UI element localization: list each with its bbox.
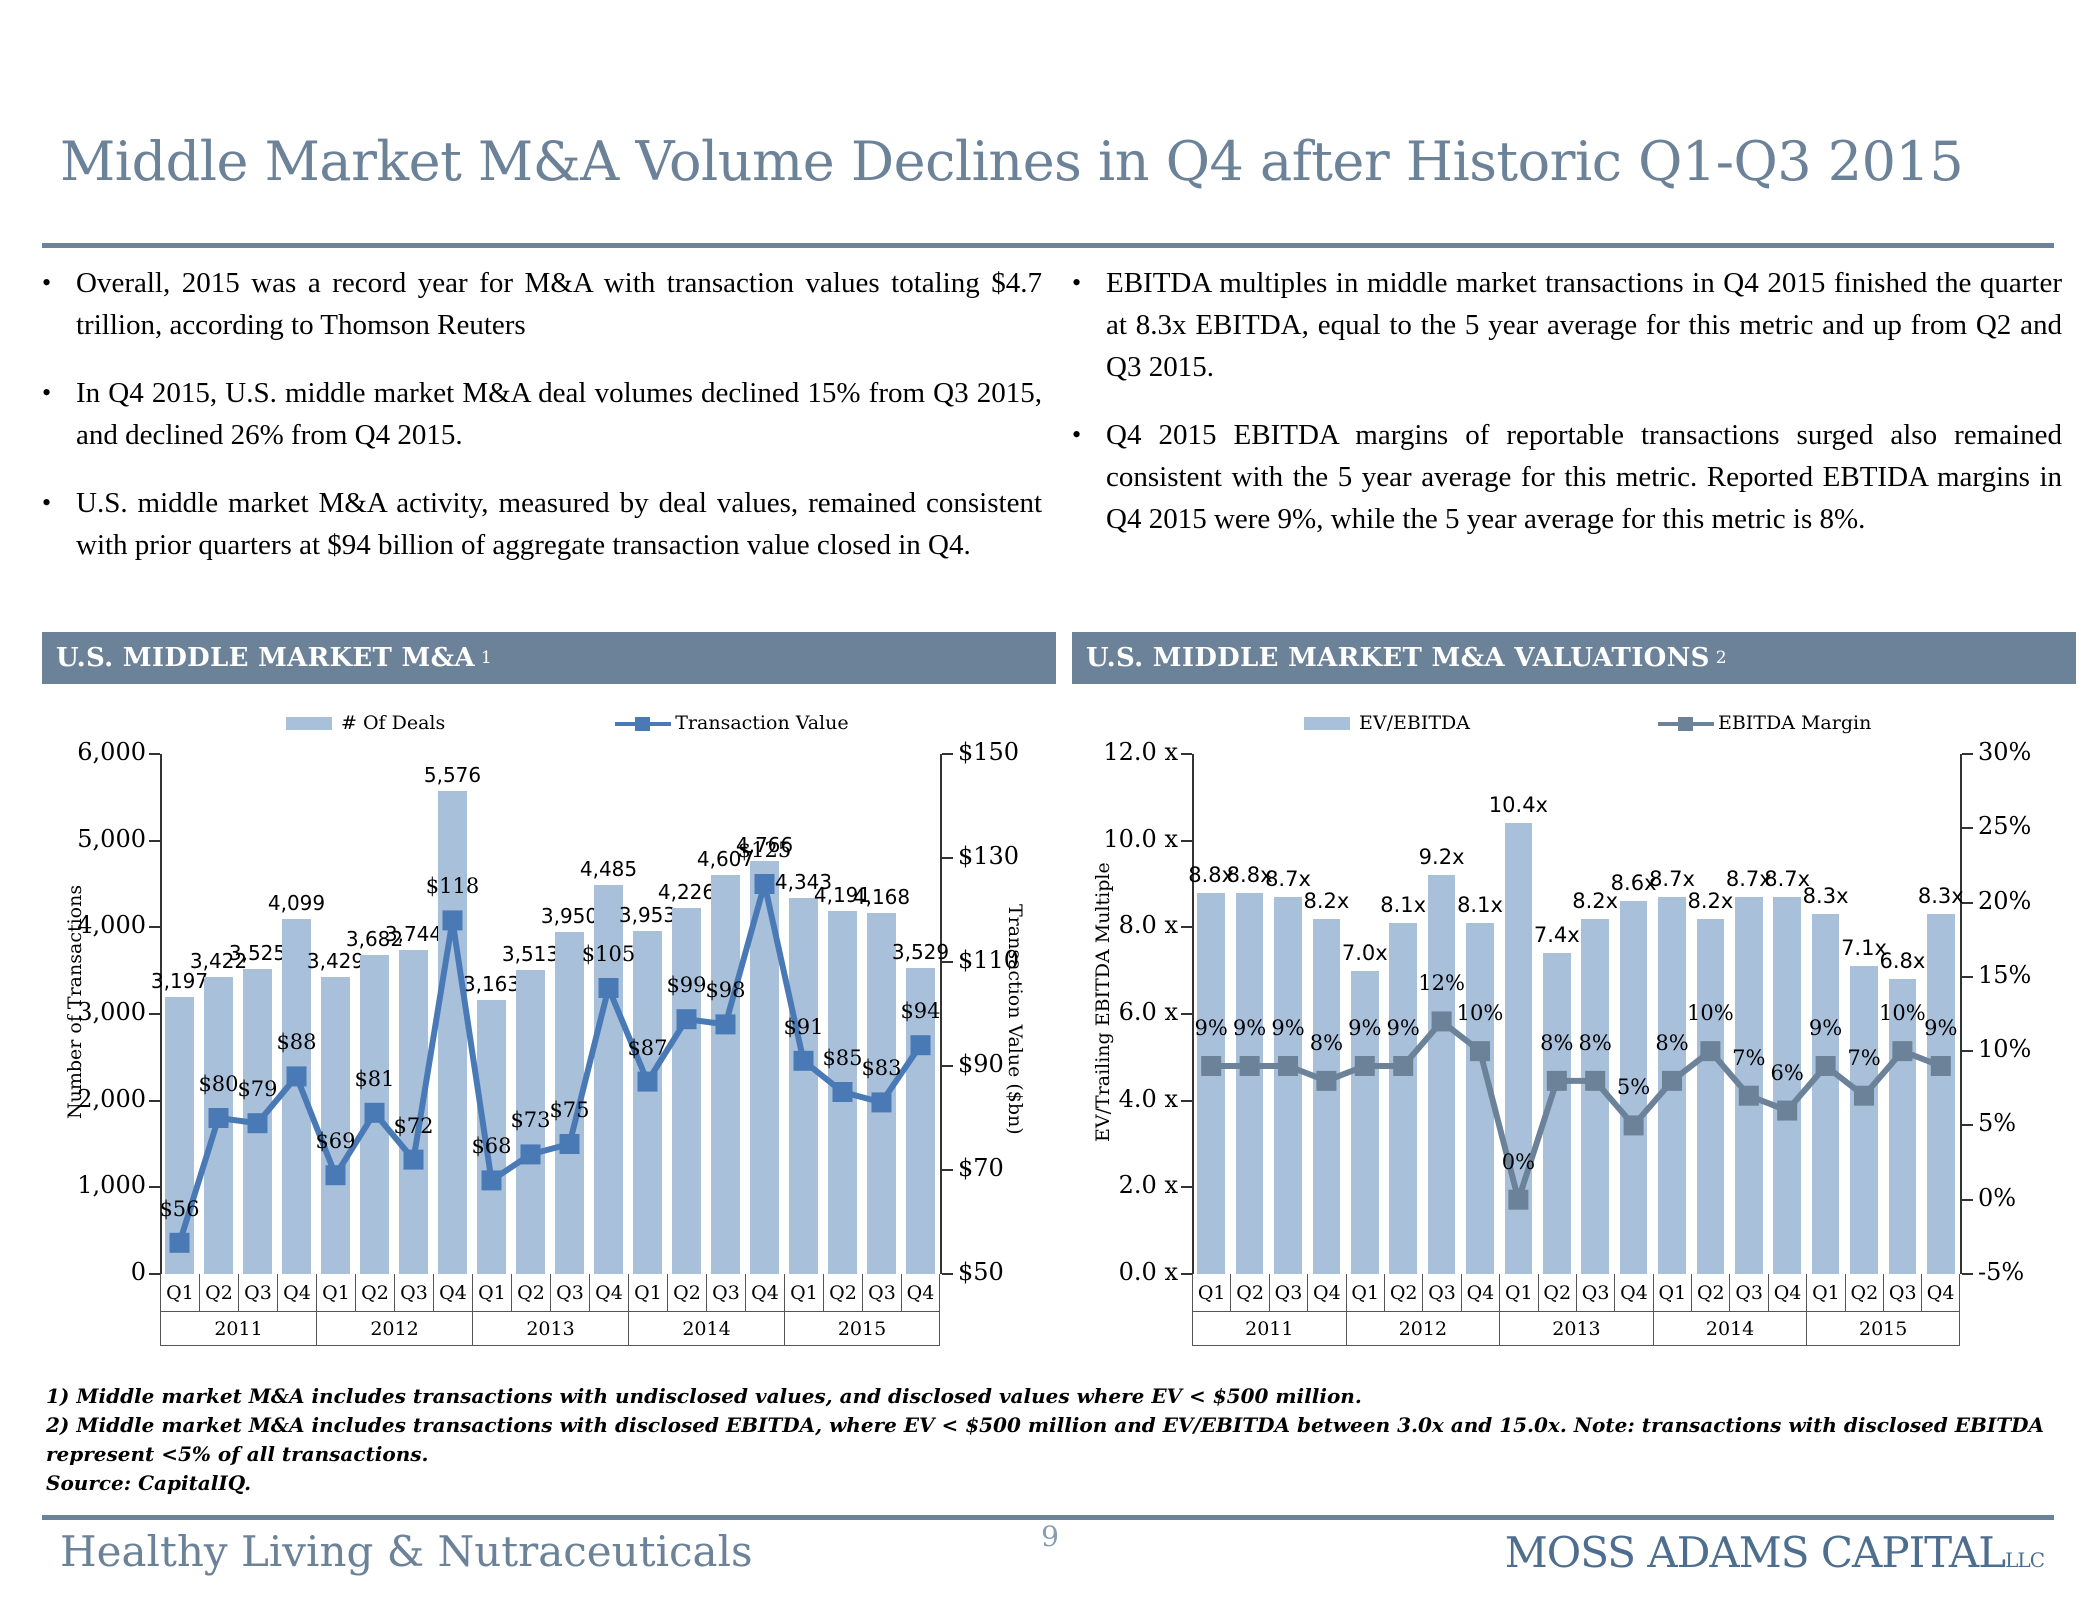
x-axis-quarter-cell: Q1 — [316, 1274, 355, 1312]
x-axis: Q1Q2Q3Q4Q1Q2Q3Q4Q1Q2Q3Q4Q1Q2Q3Q4Q1Q2Q3Q4… — [1192, 1274, 1960, 1346]
x-axis-quarter-cell: Q2 — [1230, 1274, 1268, 1312]
panel-header-right-label: U.S. MIDDLE MARKET M&A VALUATIONS — [1086, 643, 1710, 673]
line-point-label: $118 — [419, 874, 485, 898]
x-axis-quarter-cell: Q4 — [1461, 1274, 1499, 1312]
bar — [828, 911, 856, 1274]
bullet-text: EBITDA multiples in middle market transa… — [1106, 262, 2062, 388]
bar — [672, 908, 700, 1274]
line-point-label: $68 — [458, 1134, 524, 1158]
x-axis-year-cell: 2014 — [1653, 1312, 1807, 1346]
line-point-label: $56 — [146, 1197, 212, 1221]
bar — [750, 861, 778, 1274]
bar-value-label: 3,513 — [499, 942, 561, 966]
x-axis-quarter-cell: Q4 — [1921, 1274, 1959, 1312]
line-point-label: $69 — [302, 1129, 368, 1153]
line-point-label: $88 — [263, 1030, 329, 1054]
bar-value-label: 3,953 — [616, 903, 678, 927]
x-axis-year-cell: 2013 — [472, 1312, 628, 1346]
chart-legend: EV/EBITDAEBITDA Margin — [1304, 712, 1871, 734]
y2-axis-line — [1960, 754, 1962, 1274]
legend-line-label: EBITDA Margin — [1718, 712, 1871, 734]
x-axis-quarter-cell: Q1 — [1346, 1274, 1384, 1312]
x-axis-year-row: 20112012201320142015 — [160, 1312, 940, 1346]
y2-tick-label: $150 — [958, 738, 1019, 766]
legend-bar-swatch — [1304, 717, 1350, 730]
footer-brand-name: MOSS ADAMS CAPITAL — [1505, 1528, 2005, 1577]
y2-tick — [1962, 1273, 1973, 1275]
bar-value-label: 8.7x — [1257, 867, 1318, 891]
x-axis-quarter-cell: Q2 — [1384, 1274, 1422, 1312]
bar-value-label: 10.4x — [1488, 793, 1549, 817]
y-tick — [149, 1186, 160, 1188]
bar — [243, 969, 271, 1275]
y-tick — [1181, 753, 1192, 755]
y-tick — [149, 1013, 160, 1015]
line-point-label: $98 — [692, 978, 758, 1002]
x-axis-quarter-cell: Q4 — [277, 1274, 316, 1312]
y2-tick-label: $70 — [958, 1154, 1004, 1182]
y2-tick — [1962, 1124, 1973, 1126]
panel-header-left-label: U.S. MIDDLE MARKET M&A — [56, 643, 475, 673]
x-axis-quarter-cell: Q3 — [706, 1274, 745, 1312]
y-tick — [1181, 1013, 1192, 1015]
bar — [1197, 893, 1225, 1274]
y-tick — [1181, 926, 1192, 928]
line-point-label: $75 — [536, 1098, 602, 1122]
y2-tick-label: 15% — [1978, 961, 2031, 989]
y-tick-label: 0.0 x — [1100, 1258, 1178, 1286]
footer-brand: MOSS ADAMS CAPITALLLC — [1505, 1528, 2044, 1577]
bar — [1773, 897, 1801, 1274]
bar-value-label: 8.2x — [1296, 889, 1357, 913]
x-axis-quarter-cell: Q1 — [1806, 1274, 1844, 1312]
line-point-label: $81 — [341, 1067, 407, 1091]
y2-tick — [942, 857, 953, 859]
x-axis-quarter-cell: Q4 — [745, 1274, 784, 1312]
bullet-item: • Q4 2015 EBITDA margins of reportable t… — [1072, 414, 2062, 540]
x-axis-quarter-cell: Q2 — [511, 1274, 550, 1312]
y2-tick — [942, 1169, 953, 1171]
panel-header-left: U.S. MIDDLE MARKET M&A 1 — [42, 632, 1056, 684]
bullet-dot: • — [42, 372, 76, 456]
footnote-source: Source: CapitalIQ. — [46, 1469, 2046, 1498]
slide: Middle Market M&A Volume Declines in Q4 … — [0, 0, 2100, 1600]
x-axis-quarter-cell: Q2 — [667, 1274, 706, 1312]
bullet-text: Q4 2015 EBITDA margins of reportable tra… — [1106, 414, 2062, 540]
bar — [165, 997, 193, 1274]
bar-value-label: 3,529 — [889, 940, 951, 964]
x-axis-year-cell: 2012 — [316, 1312, 472, 1346]
legend-line-label: Transaction Value — [675, 712, 848, 734]
y2-tick — [1962, 753, 1973, 755]
line-point-label: $105 — [575, 942, 641, 966]
line-point-label: 7% — [1831, 1046, 1896, 1070]
bar-value-label: 6.8x — [1872, 949, 1933, 973]
y-tick — [149, 926, 160, 928]
x-axis-quarter-cell: Q4 — [589, 1274, 628, 1312]
bar — [204, 977, 232, 1274]
legend-line-swatch — [615, 717, 671, 730]
y2-tick-label: 30% — [1978, 738, 2031, 766]
y2-tick-label: 20% — [1978, 887, 2031, 915]
legend-bar-swatch — [286, 717, 332, 730]
y-tick-label: 2.0 x — [1100, 1171, 1178, 1199]
footnote-2: 2) Middle market M&A includes transactio… — [46, 1411, 2046, 1469]
x-axis-quarter-cell: Q3 — [1269, 1274, 1307, 1312]
y-axis-title: Number of Transactions — [64, 885, 86, 1119]
x-axis-quarter-cell: Q1 — [628, 1274, 667, 1312]
bar — [399, 950, 427, 1274]
footer-brand-suffix: LLC — [2005, 1548, 2044, 1572]
bullet-item: • In Q4 2015, U.S. middle market M&A dea… — [42, 372, 1042, 456]
bullet-item: • U.S. middle market M&A activity, measu… — [42, 482, 1042, 566]
bar-value-label: 4,485 — [577, 857, 639, 881]
x-axis: Q1Q2Q3Q4Q1Q2Q3Q4Q1Q2Q3Q4Q1Q2Q3Q4Q1Q2Q3Q4… — [160, 1274, 940, 1346]
y2-tick — [1962, 976, 1973, 978]
page-title: Middle Market M&A Volume Declines in Q4 … — [60, 132, 2050, 192]
bar-value-label: 3,950 — [538, 904, 600, 928]
y-tick — [1181, 1186, 1192, 1188]
x-axis-quarter-cell: Q3 — [862, 1274, 901, 1312]
line-point-label: 10% — [1447, 1001, 1512, 1025]
y-tick-label: 12.0 x — [1100, 738, 1178, 766]
bar-value-label: 3,744 — [382, 922, 444, 946]
x-axis-quarter-cell: Q2 — [355, 1274, 394, 1312]
bar-value-label: 8.7x — [1641, 867, 1702, 891]
y-tick — [149, 753, 160, 755]
bar-value-label: 5,576 — [421, 763, 483, 787]
y-tick — [149, 840, 160, 842]
x-axis-quarter-cell: Q4 — [1307, 1274, 1345, 1312]
bar — [867, 913, 895, 1274]
y2-tick-label: 25% — [1978, 812, 2031, 840]
bar — [1735, 897, 1763, 1274]
x-axis-quarter-cell: Q3 — [1883, 1274, 1921, 1312]
chart-us-middle-market-ma: # Of DealsTransaction Value01,0002,0003,… — [42, 694, 1052, 1374]
y2-tick — [942, 753, 953, 755]
x-axis-year-cell: 2015 — [784, 1312, 940, 1346]
bullet-text: Overall, 2015 was a record year for M&A … — [76, 262, 1042, 346]
x-axis-quarter-cell: Q1 — [1192, 1274, 1230, 1312]
line-point-label: $125 — [731, 838, 797, 862]
footnotes: 1) Middle market M&A includes transactio… — [46, 1382, 2046, 1498]
x-axis-quarter-cell: Q2 — [823, 1274, 862, 1312]
legend-bar-label: EV/EBITDA — [1359, 712, 1470, 734]
legend-item-bar: EV/EBITDA — [1304, 712, 1470, 734]
bar — [1812, 914, 1840, 1274]
bar-value-label: 7.0x — [1334, 941, 1395, 965]
bar-value-label: 8.3x — [1910, 884, 1971, 908]
x-axis-quarter-cell: Q1 — [1653, 1274, 1691, 1312]
line-point-label: $72 — [380, 1114, 446, 1138]
bar — [1697, 919, 1725, 1274]
bar — [1313, 919, 1341, 1274]
bar — [321, 977, 349, 1274]
bar-value-label: 3,163 — [460, 972, 522, 996]
y-axis-title: EV/Trailing EBITDA Multiple — [1092, 862, 1114, 1142]
chart-legend: # Of DealsTransaction Value — [286, 712, 849, 734]
legend-bar-label: # Of Deals — [341, 712, 445, 734]
chart-us-middle-market-ma-valuations: EV/EBITDAEBITDA Margin0.0 x2.0 x4.0 x6.0… — [1072, 694, 2072, 1374]
y-axis-line — [1192, 754, 1194, 1274]
legend-item-line: Transaction Value — [615, 712, 848, 734]
y-tick — [149, 1273, 160, 1275]
y2-tick-label: -5% — [1978, 1258, 2024, 1286]
bar-value-label: 9.2x — [1411, 845, 1472, 869]
bar-value-label: 3,429 — [304, 949, 366, 973]
line-point-label: 12% — [1409, 971, 1474, 995]
y2-tick — [1962, 827, 1973, 829]
bar — [1236, 893, 1264, 1274]
y-tick-label: 10.0 x — [1100, 825, 1178, 853]
bar-value-label: 7.4x — [1526, 923, 1587, 947]
y2-tick-label: 5% — [1978, 1109, 2016, 1137]
bullet-dot: • — [1072, 414, 1106, 540]
x-axis-quarter-cell: Q4 — [433, 1274, 472, 1312]
line-point-label: 8% — [1563, 1031, 1628, 1055]
bar-value-label: 8.3x — [1795, 884, 1856, 908]
line-point-label: 6% — [1755, 1061, 1820, 1085]
bullet-dot: • — [42, 262, 76, 346]
y2-tick-label: $50 — [958, 1258, 1004, 1286]
y2-tick — [1962, 1050, 1973, 1052]
y2-tick-label: $130 — [958, 842, 1019, 870]
x-axis-quarter-cell: Q3 — [1422, 1274, 1460, 1312]
bar-value-label: 4,168 — [850, 885, 912, 909]
bar — [1428, 875, 1456, 1274]
bar — [1543, 953, 1571, 1274]
x-axis-quarter-cell: Q3 — [394, 1274, 433, 1312]
panel-header-left-footnote-ref: 1 — [481, 648, 492, 668]
x-axis-year-cell: 2014 — [628, 1312, 784, 1346]
bullet-dot: • — [42, 482, 76, 566]
bar — [1274, 897, 1302, 1274]
y-tick — [1181, 1100, 1192, 1102]
legend-item-line: EBITDA Margin — [1658, 712, 1871, 734]
x-axis-year-cell: 2011 — [1192, 1312, 1346, 1346]
bar — [711, 875, 739, 1274]
line-point-label: 0% — [1486, 1150, 1551, 1174]
y-tick-label: 6,000 — [60, 738, 146, 766]
line-point-label: 5% — [1601, 1075, 1666, 1099]
bar-value-label: 8.1x — [1372, 893, 1433, 917]
y-tick — [149, 1100, 160, 1102]
x-axis-quarter-cell: Q3 — [238, 1274, 277, 1312]
line-point-label: 9% — [1908, 1016, 1973, 1040]
y2-tick-label: $90 — [958, 1050, 1004, 1078]
line-point-label: 9% — [1371, 1016, 1436, 1040]
x-axis-quarter-cell: Q2 — [199, 1274, 238, 1312]
line-point-label: $87 — [614, 1036, 680, 1060]
x-axis-quarter-cell: Q1 — [784, 1274, 823, 1312]
x-axis-quarter-cell: Q1 — [160, 1274, 199, 1312]
line-point-label: $94 — [887, 999, 953, 1023]
bullets-left-column: • Overall, 2015 was a record year for M&… — [42, 262, 1042, 592]
x-axis-year-row: 20112012201320142015 — [1192, 1312, 1960, 1346]
line-point-label: $91 — [770, 1015, 836, 1039]
line-point-label: 10% — [1678, 1001, 1743, 1025]
bullet-item: • Overall, 2015 was a record year for M&… — [42, 262, 1042, 346]
y2-tick-label: 10% — [1978, 1035, 2031, 1063]
x-axis-quarter-cell: Q1 — [1499, 1274, 1537, 1312]
x-axis-quarter-cell: Q4 — [1614, 1274, 1652, 1312]
x-axis-quarter-cell: Q2 — [1538, 1274, 1576, 1312]
line-point-label: $79 — [224, 1077, 290, 1101]
bar-value-label: 8.1x — [1449, 893, 1510, 917]
y-tick-label: 1,000 — [60, 1171, 146, 1199]
bullet-text: In Q4 2015, U.S. middle market M&A deal … — [76, 372, 1042, 456]
bar — [438, 791, 466, 1274]
x-axis-quarter-cell: Q2 — [1845, 1274, 1883, 1312]
legend-line-swatch — [1658, 717, 1714, 730]
line-point-label: 9% — [1793, 1016, 1858, 1040]
bar-value-label: 8.2x — [1680, 889, 1741, 913]
y2-tick — [942, 1273, 953, 1275]
title-divider — [42, 243, 2054, 248]
x-axis-quarter-cell: Q4 — [901, 1274, 940, 1312]
panel-header-right: U.S. MIDDLE MARKET M&A VALUATIONS 2 — [1072, 632, 2076, 684]
x-axis-year-cell: 2015 — [1806, 1312, 1960, 1346]
x-axis-quarter-row: Q1Q2Q3Q4Q1Q2Q3Q4Q1Q2Q3Q4Q1Q2Q3Q4Q1Q2Q3Q4 — [1192, 1274, 1960, 1312]
bar-value-label: 3,525 — [226, 941, 288, 965]
x-axis-quarter-cell: Q4 — [1768, 1274, 1806, 1312]
line-point-label: 8% — [1639, 1031, 1704, 1055]
y2-tick-label: 0% — [1978, 1184, 2016, 1212]
x-axis-quarter-cell: Q3 — [550, 1274, 589, 1312]
bullet-text: U.S. middle market M&A activity, measure… — [76, 482, 1042, 566]
x-axis-quarter-cell: Q3 — [1729, 1274, 1767, 1312]
x-axis-quarter-cell: Q3 — [1576, 1274, 1614, 1312]
x-axis-year-cell: 2012 — [1346, 1312, 1500, 1346]
x-axis-year-cell: 2013 — [1499, 1312, 1653, 1346]
y2-axis-title: Transaction Value ($bn) — [1004, 904, 1026, 1135]
y-tick-label: 0 — [60, 1258, 146, 1286]
bar-value-label: 4,226 — [655, 880, 717, 904]
y-tick-label: 5,000 — [60, 825, 146, 853]
legend-item-bar: # Of Deals — [286, 712, 445, 734]
x-axis-quarter-cell: Q2 — [1691, 1274, 1729, 1312]
bullet-dot: • — [1072, 262, 1106, 388]
line-point-label: $83 — [848, 1056, 914, 1080]
x-axis-quarter-row: Q1Q2Q3Q4Q1Q2Q3Q4Q1Q2Q3Q4Q1Q2Q3Q4Q1Q2Q3Q4 — [160, 1274, 940, 1312]
bar — [1927, 914, 1955, 1274]
bar-value-label: 4,099 — [265, 891, 327, 915]
bullet-item: • EBITDA multiples in middle market tran… — [1072, 262, 2062, 388]
x-axis-quarter-cell: Q1 — [472, 1274, 511, 1312]
y2-tick — [1962, 1199, 1973, 1201]
panel-header-right-footnote-ref: 2 — [1716, 648, 1727, 668]
x-axis-year-cell: 2011 — [160, 1312, 316, 1346]
bullets-right-column: • EBITDA multiples in middle market tran… — [1072, 262, 2062, 566]
bar — [789, 898, 817, 1274]
y2-tick — [942, 1065, 953, 1067]
footnote-1: 1) Middle market M&A includes transactio… — [46, 1382, 2046, 1411]
y-tick — [1181, 840, 1192, 842]
y-tick — [1181, 1273, 1192, 1275]
